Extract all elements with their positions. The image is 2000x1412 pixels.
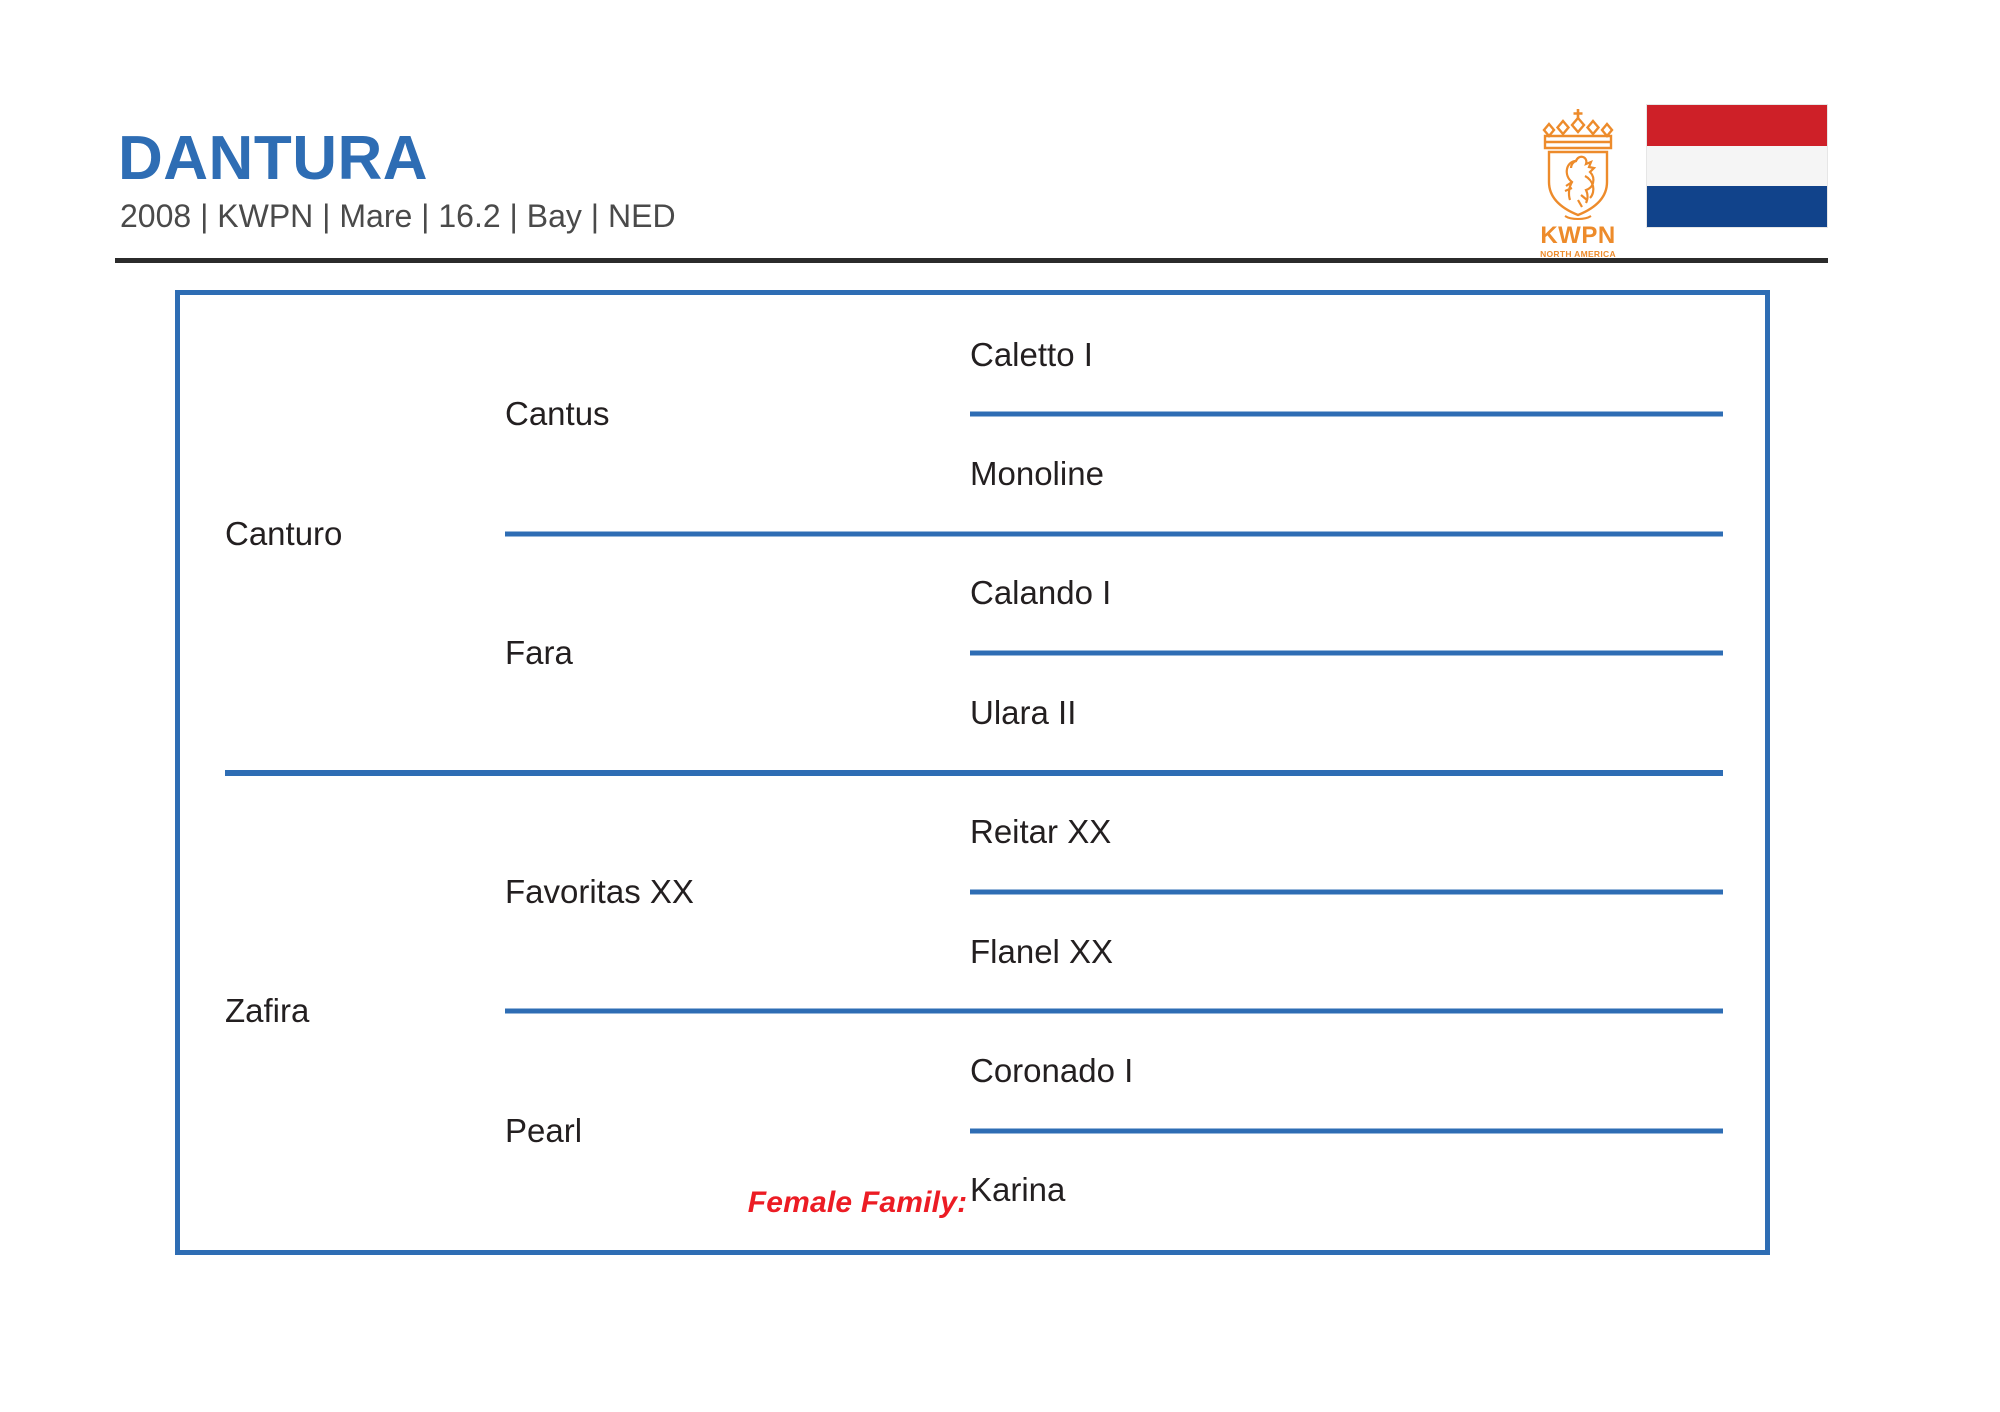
flag-band-red: [1647, 105, 1827, 146]
sire-section: Canturo Cantus Caletto I Monoline Fara C…: [180, 295, 1765, 773]
pedigree-cell: Coronado I: [180, 1011, 1765, 1130]
sire-dam-group: Fara Calando I Ulara II: [180, 534, 1765, 773]
pedigree-cell: Reitar XX: [180, 773, 1765, 892]
pedigree-cell: Monoline: [180, 414, 1765, 533]
ancestor-name: Flanel XX: [970, 933, 1113, 971]
ancestor-name: Coronado I: [970, 1052, 1133, 1090]
pedigree-cell: Ulara II: [180, 653, 1765, 772]
kwpn-wordmark: KWPN: [1540, 224, 1615, 248]
ancestor-name: Monoline: [970, 455, 1104, 493]
pedigree-chart: Canturo Cantus Caletto I Monoline Fara C…: [175, 290, 1770, 1255]
ancestor-name: Calando I: [970, 574, 1111, 612]
sire-sire-group: Cantus Caletto I Monoline: [180, 295, 1765, 534]
brand-block: KWPN NORTH AMERICA: [1532, 104, 1828, 259]
crowned-shield-lion-icon: [1532, 104, 1624, 222]
ancestor-name: Caletto I: [970, 336, 1093, 374]
horse-metadata-line: 2008 | KWPN | Mare | 16.2 | Bay | NED: [120, 200, 676, 232]
page-title: DANTURA: [118, 128, 676, 190]
ancestor-name: Ulara II: [970, 694, 1076, 732]
header-divider: [115, 258, 1828, 263]
pedigree-cell: Caletto I: [180, 295, 1765, 414]
ancestor-name: Reitar XX: [970, 813, 1111, 851]
flag-band-white: [1647, 146, 1827, 187]
title-block: DANTURA 2008 | KWPN | Mare | 16.2 | Bay …: [118, 128, 676, 232]
female-family-label: Female Family:: [180, 1186, 1765, 1220]
pedigree-cell: Calando I: [180, 534, 1765, 653]
page-header: DANTURA 2008 | KWPN | Mare | 16.2 | Bay …: [0, 0, 2000, 275]
pedigree-cell: Flanel XX: [180, 892, 1765, 1011]
dam-sire-group: Favoritas XX Reitar XX Flanel XX: [180, 773, 1765, 1012]
dam-section: Zafira Favoritas XX Reitar XX Flanel XX …: [180, 773, 1765, 1251]
kwpn-logo: KWPN NORTH AMERICA: [1532, 104, 1624, 259]
netherlands-flag-icon: [1646, 104, 1828, 228]
flag-band-blue: [1647, 186, 1827, 227]
